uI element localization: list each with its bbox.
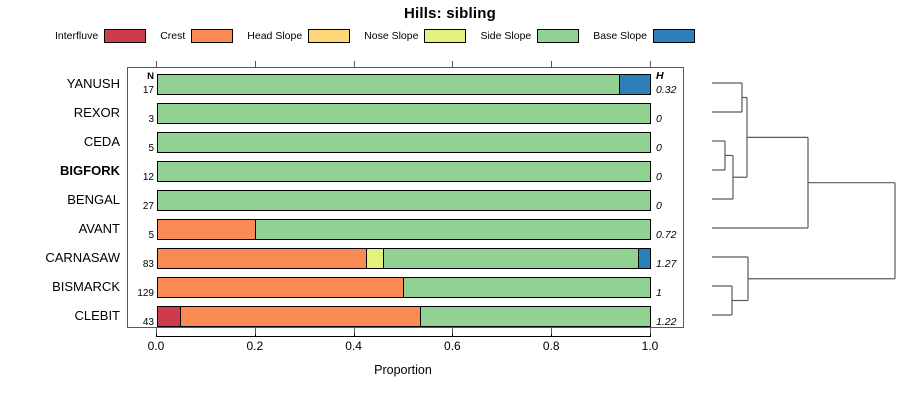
stacked-bar[interactable] <box>157 277 651 298</box>
bar-segment[interactable] <box>256 220 650 239</box>
bar-segment[interactable] <box>404 278 650 297</box>
bar-segment[interactable] <box>181 307 421 326</box>
x-axis-tick-label: 0.4 <box>329 339 379 353</box>
h-value: 0 <box>656 171 684 183</box>
bar-segment[interactable] <box>158 220 256 239</box>
panel-tick-top <box>156 61 157 68</box>
panel-tick-top <box>452 61 453 68</box>
bar-row: 30 <box>128 99 685 128</box>
panel-tick-top <box>255 61 256 68</box>
panel-tick-bottom <box>255 327 256 334</box>
panel-tick-top <box>650 61 651 68</box>
y-axis-label: AVANT <box>0 214 120 243</box>
bar-segment[interactable] <box>158 307 181 326</box>
legend-entry: Crest <box>160 29 233 43</box>
y-axis-label: BIGFORK <box>0 156 120 185</box>
y-axis-label: BENGAL <box>0 185 120 214</box>
bar-row: 170.32 <box>128 70 685 99</box>
h-value: 0 <box>656 113 684 125</box>
chart-root: Hills: sibling InterfluveCrestHead Slope… <box>0 0 900 400</box>
h-value: 0 <box>656 142 684 154</box>
bar-segment[interactable] <box>158 75 620 94</box>
bar-segment[interactable] <box>158 278 404 297</box>
legend-swatch <box>104 29 146 43</box>
legend-label: Base Slope <box>593 30 647 42</box>
stacked-bar[interactable] <box>157 190 651 211</box>
legend-swatch <box>537 29 579 43</box>
h-value: 1.22 <box>656 316 684 328</box>
stacked-bar[interactable] <box>157 132 651 153</box>
x-axis-tick-label: 0.0 <box>131 339 181 353</box>
n-value: 83 <box>128 259 154 270</box>
legend-label: Interfluve <box>55 30 98 42</box>
y-axis-label: CLEBIT <box>0 301 120 330</box>
stacked-bar[interactable] <box>157 103 651 124</box>
legend-swatch <box>653 29 695 43</box>
n-value: 12 <box>128 172 154 183</box>
panel-tick-top <box>551 61 552 68</box>
h-value: 0 <box>656 200 684 212</box>
legend-entry: Nose Slope <box>364 29 466 43</box>
legend-swatch <box>191 29 233 43</box>
page-title: Hills: sibling <box>0 5 900 22</box>
legend-swatch <box>424 29 466 43</box>
legend-entry: Head Slope <box>247 29 350 43</box>
panel-tick-bottom <box>551 327 552 334</box>
n-value: 27 <box>128 201 154 212</box>
x-axis-tick-label: 0.6 <box>427 339 477 353</box>
x-axis-tick-label: 1.0 <box>625 339 675 353</box>
bar-segment[interactable] <box>158 249 367 268</box>
bar-segment[interactable] <box>384 249 639 268</box>
panel-tick-top <box>354 61 355 68</box>
h-value: 1 <box>656 287 684 299</box>
bar-segment[interactable] <box>158 162 650 181</box>
bar-row: 270 <box>128 186 685 215</box>
bar-segment[interactable] <box>639 249 650 268</box>
legend-label: Nose Slope <box>364 30 418 42</box>
y-axis-label: YANUSH <box>0 69 120 98</box>
y-axis-label: BISMARCK <box>0 272 120 301</box>
panel-tick-bottom <box>650 327 651 334</box>
legend-entry: Base Slope <box>593 29 695 43</box>
bar-segment[interactable] <box>367 249 384 268</box>
plot-panel: NH170.32305012027050.72831.271291431.22 <box>127 67 684 328</box>
n-value: 17 <box>128 85 154 96</box>
bar-row: 431.22 <box>128 302 685 331</box>
n-value: 3 <box>128 114 154 125</box>
dendrogram <box>690 60 900 340</box>
bar-segment[interactable] <box>421 307 650 326</box>
stacked-bar[interactable] <box>157 219 651 240</box>
bar-row: 120 <box>128 157 685 186</box>
y-axis-label: REXOR <box>0 98 120 127</box>
n-value: 5 <box>128 143 154 154</box>
panel-tick-bottom <box>354 327 355 334</box>
stacked-bar[interactable] <box>157 248 651 269</box>
stacked-bar[interactable] <box>157 74 651 95</box>
n-value: 5 <box>128 230 154 241</box>
legend-swatch <box>308 29 350 43</box>
x-axis-title: Proportion <box>156 363 650 377</box>
bar-row: 50.72 <box>128 215 685 244</box>
legend-label: Side Slope <box>480 30 531 42</box>
stacked-bar[interactable] <box>157 306 651 327</box>
y-axis-label: CEDA <box>0 127 120 156</box>
legend-label: Crest <box>160 30 185 42</box>
panel-tick-bottom <box>452 327 453 334</box>
bar-segment[interactable] <box>620 75 650 94</box>
x-axis-line <box>156 336 650 337</box>
x-axis-tick-label: 0.2 <box>230 339 280 353</box>
legend-entry: Side Slope <box>480 29 579 43</box>
h-value: 0.72 <box>656 229 684 241</box>
bar-row: 50 <box>128 128 685 157</box>
x-axis-tick-label: 0.8 <box>526 339 576 353</box>
bar-segment[interactable] <box>158 133 650 152</box>
n-value: 129 <box>128 288 154 299</box>
legend-label: Head Slope <box>247 30 302 42</box>
h-value: 0.32 <box>656 84 684 96</box>
bar-segment[interactable] <box>158 104 650 123</box>
legend-entry: Interfluve <box>55 29 146 43</box>
legend: InterfluveCrestHead SlopeNose SlopeSide … <box>55 27 855 45</box>
bar-row: 1291 <box>128 273 685 302</box>
bar-segment[interactable] <box>158 191 650 210</box>
stacked-bar[interactable] <box>157 161 651 182</box>
h-value: 1.27 <box>656 258 684 270</box>
y-axis-label: CARNASAW <box>0 243 120 272</box>
panel-tick-bottom <box>156 327 157 334</box>
bar-row: 831.27 <box>128 244 685 273</box>
n-value: 43 <box>128 317 154 328</box>
